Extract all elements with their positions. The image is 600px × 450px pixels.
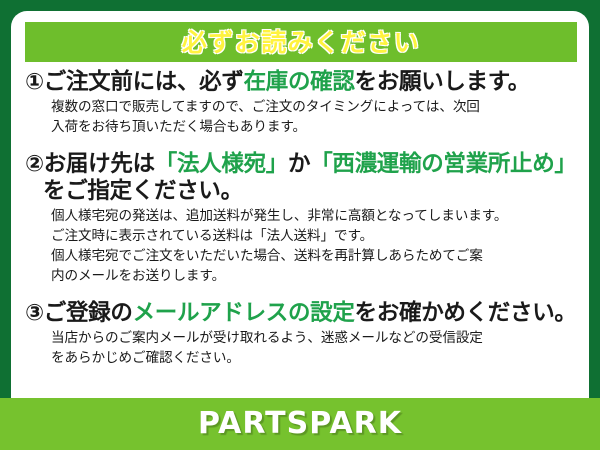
notice-item-1-heading-highlight: 在庫の確認 bbox=[244, 69, 355, 95]
notice-item-2-heading-part-1: お届け先は bbox=[44, 151, 155, 177]
notice-item-2-heading-highlight-2: 「西濃運輸の営業所止め」 bbox=[310, 151, 576, 177]
brand-footer-band: PARTSPARK bbox=[0, 398, 600, 450]
notice-item-3: ③ご登録のメールアドレスの設定をお確かめください。 当店からのご案内メールが受け… bbox=[25, 300, 579, 368]
notice-item-2-heading-line-2: をご指定ください。 bbox=[25, 178, 579, 205]
notice-item-3-heading-highlight: メールアドレスの設定 bbox=[133, 300, 355, 326]
notice-item-3-marker: ③ bbox=[25, 300, 44, 326]
notice-panel: 必ずお読みください ①ご注文前には、必ず在庫の確認をお願いします。 複数の窓口で… bbox=[11, 11, 589, 398]
notice-item-2-marker: ② bbox=[25, 151, 44, 177]
notice-item-1-body: 複数の窓口で販売してますので、ご注文のタイミングによっては、次回 入荷をお待ち頂… bbox=[25, 98, 579, 137]
notice-item-2-heading-highlight-1: 「法人様宛」 bbox=[155, 151, 288, 177]
notice-item-2-body-line-1: 個人様宅宛の発送は、追加送料が発生し、非常に高額となってしまいます。 bbox=[51, 207, 579, 227]
notice-item-1-heading-part-1: ご注文前には、必ず bbox=[44, 69, 244, 95]
notice-item-2-heading-part-3: か bbox=[288, 151, 310, 177]
notice-item-1-body-line-1: 複数の窓口で販売してますので、ご注文のタイミングによっては、次回 bbox=[51, 98, 579, 118]
notice-items-list: ①ご注文前には、必ず在庫の確認をお願いします。 複数の窓口で販売してますので、ご… bbox=[25, 67, 579, 398]
notice-item-2-body: 個人様宅宛の発送は、追加送料が発生し、非常に高額となってしまいます。 ご注文時に… bbox=[25, 207, 579, 286]
notice-item-2-body-line-2: ご注文時に表示されている送料は「法人送料」です。 bbox=[51, 227, 579, 247]
notice-item-3-body-line-2: をあらかじめご確認ください。 bbox=[51, 349, 579, 369]
notice-item-1-marker: ① bbox=[25, 69, 44, 95]
notice-item-1: ①ご注文前には、必ず在庫の確認をお願いします。 複数の窓口で販売してますので、ご… bbox=[25, 69, 579, 137]
notice-item-2-body-line-3: 個人様宅宛でご注文をいただいた場合、送料を再計算しあらためてご案 bbox=[51, 247, 579, 267]
notice-item-1-body-line-2: 入荷をお待ち頂いただく場合もあります。 bbox=[51, 118, 579, 138]
notice-header-title: 必ずお読みください bbox=[182, 30, 421, 55]
notice-header-band: 必ずお読みください bbox=[25, 22, 577, 62]
notice-item-1-heading: ①ご注文前には、必ず在庫の確認をお願いします。 bbox=[25, 69, 579, 96]
notice-item-3-body: 当店からのご案内メールが受け取れるよう、迷惑メールなどの受信設定 をあらかじめご… bbox=[25, 329, 579, 368]
notice-item-1-heading-part-3: をお願いします。 bbox=[355, 69, 530, 95]
notice-item-2-heading: ②お届け先は「法人様宛」か「西濃運輸の営業所止め」 をご指定ください。 bbox=[25, 151, 579, 205]
notice-item-3-heading-part-3: をお確かめください。 bbox=[355, 300, 577, 326]
brand-logo-text: PARTSPARK bbox=[198, 409, 402, 439]
notice-item-3-heading: ③ご登録のメールアドレスの設定をお確かめください。 bbox=[25, 300, 579, 327]
notice-item-2: ②お届け先は「法人様宛」か「西濃運輸の営業所止め」 をご指定ください。 個人様宅… bbox=[25, 151, 579, 286]
notice-item-3-body-line-1: 当店からのご案内メールが受け取れるよう、迷惑メールなどの受信設定 bbox=[51, 329, 579, 349]
notice-item-3-heading-part-1: ご登録の bbox=[44, 300, 133, 326]
notice-item-2-body-line-4: 内のメールをお送りします。 bbox=[51, 267, 579, 287]
notice-card: 必ずお読みください ①ご注文前には、必ず在庫の確認をお願いします。 複数の窓口で… bbox=[0, 0, 600, 450]
